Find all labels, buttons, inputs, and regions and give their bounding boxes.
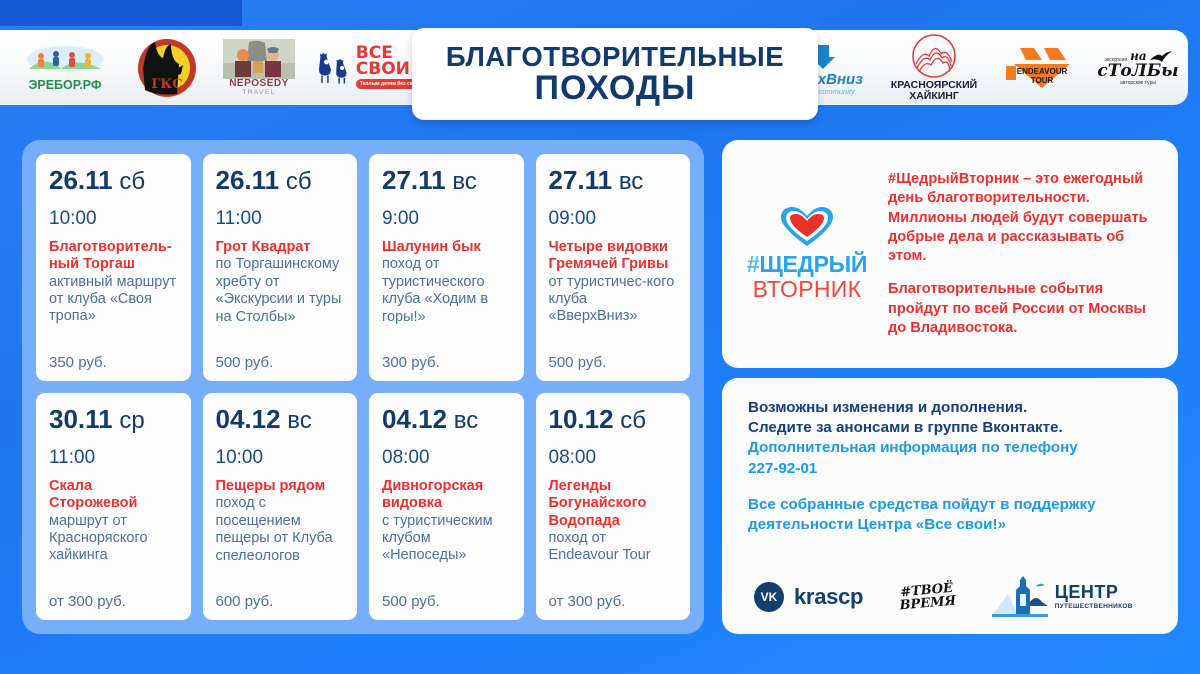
event-title: Скала Сторожевой: [49, 478, 178, 512]
event-card[interactable]: 10.12 сб08:00Легенды Богунайского Водопа…: [536, 393, 691, 620]
info-panel: Возможны изменения и дополнения. Следите…: [722, 378, 1178, 634]
event-title: Шалунин бык: [382, 239, 511, 256]
event-card[interactable]: 27.11 вс09:00Четыре видовки Гремячей Гри…: [536, 154, 691, 381]
event-card[interactable]: 30.11 ср11:00Скала Сторожевоймаршрут от …: [36, 393, 191, 620]
event-date-value: 04.12: [216, 404, 281, 434]
event-weekday: сб: [286, 168, 312, 195]
event-description: маршрут от Красноряского хайкинга: [49, 513, 178, 565]
centr-label: ЦЕНТР: [1055, 582, 1119, 602]
event-title: Четыре видовки Гремячей Гривы: [549, 239, 678, 273]
krasnoyarsk-hiking-logo-sublabel: ХАЙКИНГ: [909, 91, 959, 102]
event-title: Дивногорская видовка: [382, 478, 511, 512]
shchedry-logo-word2: ВТОРНИК: [753, 277, 862, 302]
vse-svoi-birds-icon: [316, 46, 352, 90]
shchedry-vtornik-logo: #ЩЕДРЫЙ ВТОРНИК: [732, 206, 882, 302]
event-description: поход с посещением пещеры от Клуба спеле…: [216, 495, 345, 565]
event-time: 10:00: [216, 447, 345, 469]
event-date-value: 04.12: [382, 404, 447, 434]
event-price: 500 руб.: [382, 585, 511, 610]
endeavour-logo-label: ENDEAVOUR: [1017, 67, 1068, 76]
event-time: 08:00: [382, 447, 511, 469]
chapel-icon: [992, 576, 1048, 618]
info-line-1: Возможны изменения и дополнения.: [748, 398, 1158, 418]
event-time: 08:00: [549, 447, 678, 469]
event-price: от 300 руб.: [549, 585, 678, 610]
centr-sublabel: ПУТЕШЕСТВЕННИКОВ: [1055, 604, 1133, 611]
krasnoyarsk-hiking-logo: КРАСНОЯРСКИЙ ХАЙКИНГ: [886, 34, 982, 101]
krasnoyarsk-hiking-logo-label: КРАСНОЯРСКИЙ: [891, 80, 977, 91]
event-price: 500 руб.: [216, 346, 345, 371]
page-title: БЛАГОТВОРИТЕЛЬНЫЕ ПОХОДЫ: [412, 28, 818, 120]
event-weekday: ср: [119, 407, 144, 434]
info-line-4: Все собранные средства пойдут в поддержк…: [748, 495, 1158, 535]
shchedry-paragraph-1: #ЩедрыйВторник – это ежегодный день благ…: [888, 170, 1160, 266]
event-card[interactable]: 26.11 сб11:00Грот Квадратпо Торгашинском…: [203, 154, 358, 381]
event-weekday: вс: [619, 168, 643, 195]
heart-icon: [779, 206, 835, 248]
event-card[interactable]: 04.12 вс08:00Дивногорская видовкас турис…: [369, 393, 524, 620]
centr-puteshestvennikov-logo: ЦЕНТР ПУТЕШЕСТВЕННИКОВ: [992, 576, 1133, 618]
event-time: 9:00: [382, 208, 511, 230]
event-date-value: 27.11: [382, 165, 446, 195]
info-line-2: Следите за анонсами в группе Вконтакте.: [748, 418, 1158, 438]
event-price: 350 руб.: [49, 346, 178, 371]
shchedry-vtornik-panel: #ЩЕДРЫЙ ВТОРНИК #ЩедрыйВторник – это еже…: [722, 140, 1178, 368]
poster-root: ЭРЕБОР.РФ ГКС: [0, 0, 1200, 674]
event-date-value: 26.11: [216, 165, 280, 195]
centr-text-block: ЦЕНТР ПУТЕШЕСТВЕННИКОВ: [1055, 583, 1133, 611]
partner-logos-left: ЭРЕБОР.РФ ГКС: [16, 38, 434, 98]
event-price: 500 руб.: [549, 346, 678, 371]
erebor-logo-label: ЭРЕБОР.РФ: [28, 79, 101, 92]
events-grid: 26.11 сб10:00Благотворитель-ный Торгашак…: [22, 140, 704, 634]
top-accent-bar: [0, 0, 242, 26]
neposedy-logo-label: NEPOSEDY: [229, 79, 289, 89]
event-time: 10:00: [49, 208, 178, 230]
event-date-value: 26.11: [49, 165, 113, 195]
event-description: поход от туристического клуба «Ходим в г…: [382, 256, 511, 326]
event-title: Легенды Богунайского Водопада: [549, 478, 678, 529]
event-price: от 300 руб.: [49, 585, 178, 610]
shchedry-logo-word1: #ЩЕДРЫЙ: [747, 252, 867, 276]
shchedry-paragraph-2: Благотворительные события пройдут по все…: [888, 280, 1160, 338]
neposedy-logo-sublabel: TRAVEL: [242, 89, 275, 96]
event-date: 04.12 вс: [216, 406, 345, 433]
event-date: 10.12 сб: [549, 406, 678, 433]
info-line-3: Дополнительная информация по телефону: [748, 438, 1158, 458]
event-time: 11:00: [49, 447, 178, 469]
gks-logo: ГКС: [132, 38, 202, 98]
shchedry-description: #ЩедрыйВторник – это ежегодный день благ…: [882, 170, 1160, 338]
gks-bat-icon: ГКС: [137, 38, 197, 98]
spacer: [748, 479, 1158, 495]
event-time: 09:00: [549, 208, 678, 230]
tvoyo-vremya-logo: #ТВОЁ ВРЕМЯ: [898, 582, 957, 613]
event-description: активный маршрут от клуба «Своя тропа»: [49, 274, 178, 326]
event-title: Благотворитель-ный Торгаш: [49, 239, 178, 273]
vk-icon: VK: [754, 582, 784, 612]
event-price: 600 руб.: [216, 585, 345, 610]
gks-logo-label: ГКС: [151, 77, 182, 92]
event-date: 04.12 вс: [382, 406, 511, 433]
event-date: 26.11 сб: [49, 167, 178, 194]
footer-logos: VK krascp #ТВОЁ ВРЕМЯ ЦЕНТР ПУТЕШЕС: [748, 576, 1158, 634]
event-card[interactable]: 27.11 вс9:00Шалунин быкпоход от туристич…: [369, 154, 524, 381]
event-time: 11:00: [216, 208, 345, 230]
event-card[interactable]: 04.12 вс10:00Пещеры рядомпоход с посещен…: [203, 393, 358, 620]
event-weekday: вс: [452, 168, 476, 195]
event-weekday: вс: [287, 407, 311, 434]
neposedy-travel-logo: NEPOSEDY TRAVEL: [220, 39, 298, 96]
event-description: от туристичес-кого клуба «ВверхВниз»: [549, 274, 678, 326]
event-date-value: 30.11: [49, 404, 113, 434]
na-stolby-logo-label: сТоЛБы: [1097, 63, 1178, 79]
event-weekday: сб: [119, 168, 145, 195]
neposedy-hikers-icon: [223, 39, 295, 79]
event-title: Пещеры рядом: [216, 478, 345, 495]
info-phone[interactable]: 227-92-01: [748, 459, 1158, 479]
event-price: 300 руб.: [382, 346, 511, 371]
event-date: 26.11 сб: [216, 167, 345, 194]
vk-krascp-label: krascp: [794, 584, 863, 610]
event-date: 30.11 ср: [49, 406, 178, 433]
event-date-value: 27.11: [549, 165, 613, 195]
krasnoyarsk-hiking-mountain-icon: [911, 34, 957, 78]
event-weekday: сб: [620, 407, 646, 434]
vk-krascp-logo[interactable]: VK krascp: [754, 582, 863, 612]
tvoyo-vremya-sublabel: ВРЕМЯ: [899, 595, 956, 613]
page-title-line1: БЛАГОТВОРИТЕЛЬНЫЕ: [446, 42, 784, 71]
event-date: 27.11 вс: [382, 167, 511, 194]
endeavour-tour-logo: ENDEAVOUR TOUR: [998, 46, 1086, 90]
page-title-line2: ПОХОДЫ: [535, 71, 696, 107]
erebor-logo: ЭРЕБОР.РФ: [16, 44, 114, 92]
event-date-value: 10.12: [549, 404, 614, 434]
event-date: 27.11 вс: [549, 167, 678, 194]
na-stolby-logo-sub3: авторские туры: [1120, 80, 1156, 86]
na-stolby-logo: экскурсии на сТоЛБы авторские туры: [1102, 49, 1174, 85]
event-weekday: вс: [454, 407, 478, 434]
event-description: поход от Endeavour Tour: [549, 530, 678, 565]
event-description: по Торгашинскому хребту от «Экскурсии и …: [216, 256, 345, 326]
shchedry-word: ЩЕДРЫЙ: [759, 251, 867, 277]
event-card[interactable]: 26.11 сб10:00Благотворитель-ный Торгашак…: [36, 154, 191, 381]
event-title: Грот Квадрат: [216, 239, 345, 256]
endeavour-logo-sublabel: TOUR: [1031, 76, 1054, 85]
endeavour-tour-mark-icon: ENDEAVOUR TOUR: [1004, 46, 1080, 90]
hash-symbol: #: [747, 251, 760, 277]
event-description: с туристическим клубом «Непоседы»: [382, 513, 511, 565]
erebor-illustration-icon: [25, 44, 105, 78]
